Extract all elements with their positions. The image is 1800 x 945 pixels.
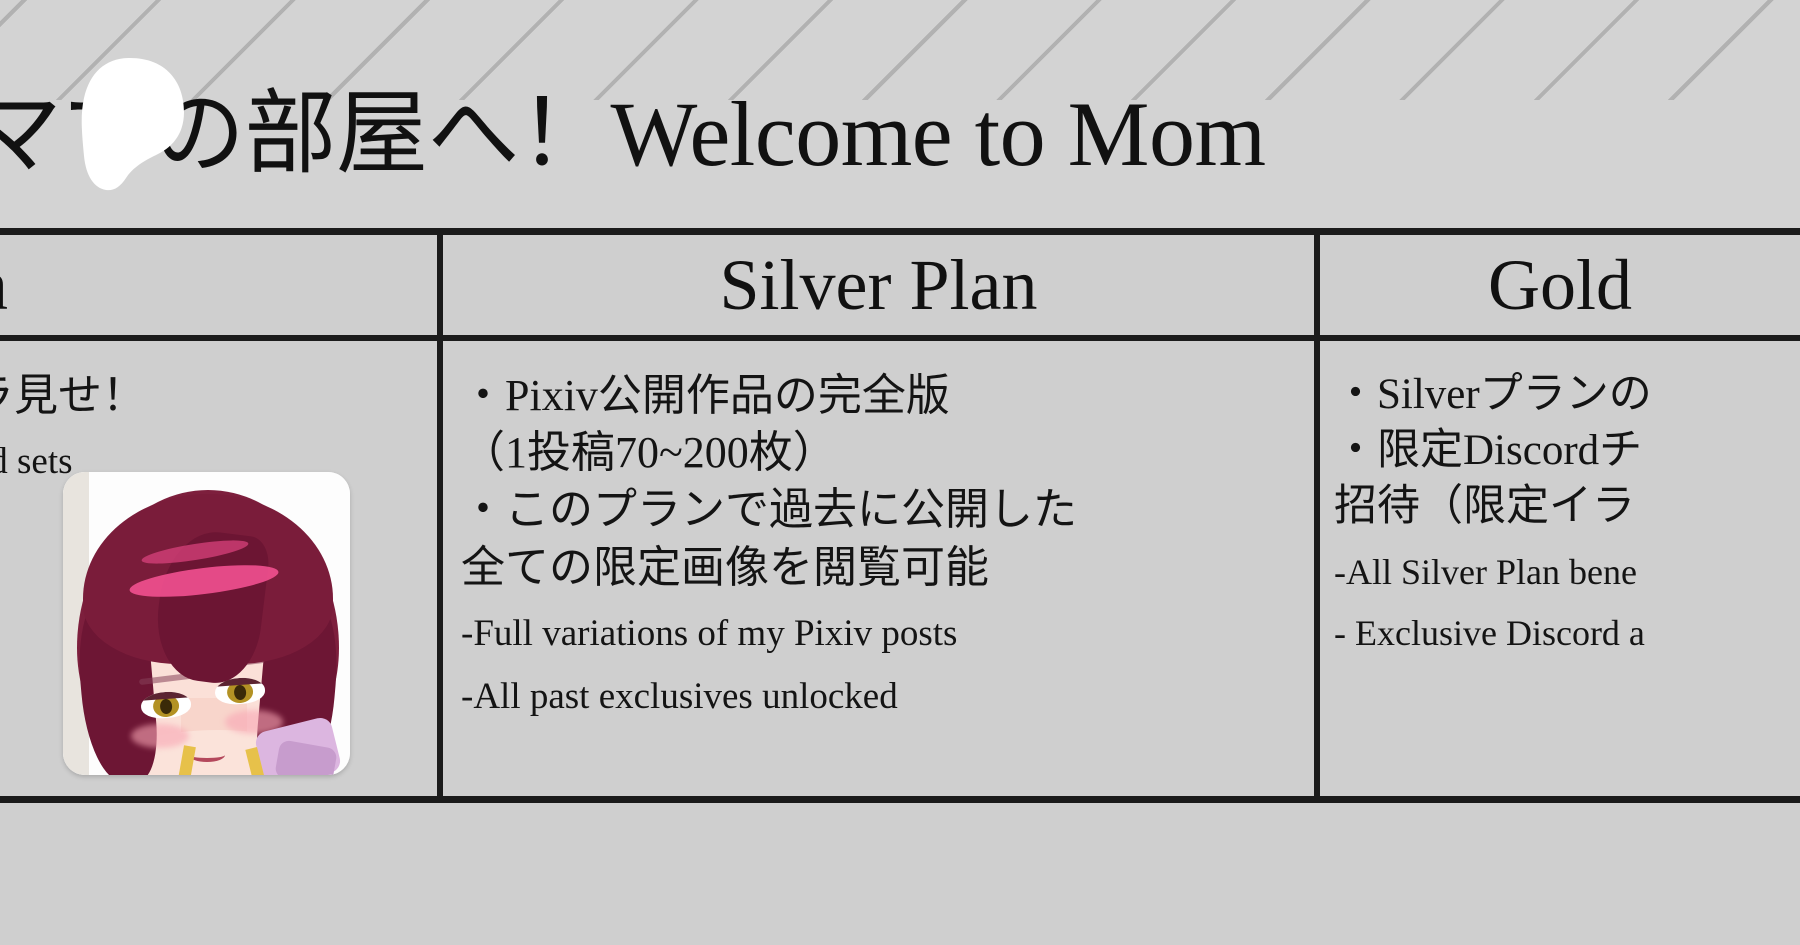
- plan-header-silver: Silver Plan: [443, 235, 1314, 341]
- plan-benefits-jp-gold: ・Silverプランの ・限定Discordチ 招待（限定イラ: [1334, 367, 1800, 535]
- plan-benefits-jp-free: をチラ見せ！: [0, 367, 437, 424]
- list-item: -All Silver Plan bene: [1334, 549, 1800, 597]
- plan-header-free: Plan: [0, 235, 437, 341]
- plan-body-gold: ・Silverプランの ・限定Discordチ 招待（限定イラ -All Sil…: [1320, 341, 1800, 796]
- list-item: をチラ見せ！: [0, 367, 437, 424]
- footer-strip: [0, 810, 1800, 945]
- list-item: 全ての限定画像を閲覧可能: [461, 539, 1314, 596]
- plan-title-silver: Silver Plan: [720, 249, 1038, 321]
- plan-body-silver: ・Pixiv公開作品の完全版 （1投稿70~200枚） ・このプランで過去に公開…: [443, 341, 1314, 796]
- plan-title-gold: Gold: [1488, 249, 1632, 321]
- plan-benefits-jp-silver: ・Pixiv公開作品の完全版 （1投稿70~200枚） ・このプランで過去に公開…: [461, 367, 1314, 596]
- screenshot-root: ママの部屋へ！Welcome to Mom Plan をチラ見せ！ rs of …: [0, 0, 1800, 945]
- list-item: 招待（限定イラ: [1334, 479, 1800, 535]
- list-item: ・限定Discordチ: [1334, 423, 1800, 479]
- list-item: ・Pixiv公開作品の完全版: [461, 367, 1314, 424]
- list-item: - Exclusive Discord a: [1334, 610, 1800, 658]
- plan-title-free: Plan: [0, 249, 8, 321]
- banner: ママの部屋へ！Welcome to Mom: [0, 0, 1800, 228]
- list-item: ・Silverプランの: [1334, 367, 1800, 423]
- avatar-blush-left: [131, 724, 189, 748]
- page-title: ママの部屋へ！Welcome to Mom: [0, 88, 1800, 180]
- plan-benefits-en-gold: -All Silver Plan bene - Exclusive Discor…: [1334, 549, 1800, 658]
- list-item: （1投稿70~200枚）: [461, 424, 1314, 481]
- plan-column-gold[interactable]: Gold ・Silverプランの ・限定Discordチ 招待（限定イラ -Al…: [1320, 235, 1800, 796]
- avatar[interactable]: [63, 472, 350, 775]
- plan-column-silver[interactable]: Silver Plan ・Pixiv公開作品の完全版 （1投稿70~200枚） …: [437, 235, 1320, 796]
- plan-benefits-en-silver: -Full variations of my Pixiv posts -All …: [461, 610, 1314, 722]
- list-item: -All past exclusives unlocked: [461, 673, 1314, 722]
- list-item: -Full variations of my Pixiv posts: [461, 610, 1314, 659]
- plan-header-gold: Gold: [1320, 235, 1800, 341]
- list-item: ・このプランで過去に公開した: [461, 481, 1314, 538]
